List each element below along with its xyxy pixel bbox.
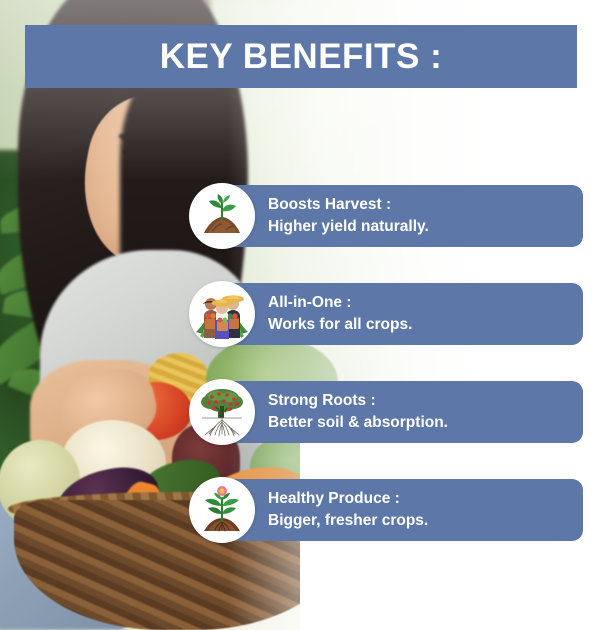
header-banner: KEY BENEFITS : [25,25,577,88]
benefit-title: Boosts Harvest : [268,194,583,216]
benefit-row[interactable]: Healthy Produce : Bigger, fresher crops. [0,479,600,577]
benefit-pill[interactable]: Boosts Harvest : Higher yield naturally. [218,185,583,247]
benefit-description: Better soil & absorption. [268,412,583,434]
benefit-row[interactable]: Boosts Harvest : Higher yield naturally. [0,185,600,283]
benefit-description: Bigger, fresher crops. [268,510,583,532]
farmers-group-icon [189,281,255,347]
benefits-list: Boosts Harvest : Higher yield naturally. [0,185,600,577]
benefit-pill[interactable]: All-in-One : Works for all crops. [218,283,583,345]
benefit-description: Works for all crops. [268,314,583,336]
benefit-row[interactable]: Strong Roots : Better soil & absorption. [0,381,600,479]
benefit-pill[interactable]: Healthy Produce : Bigger, fresher crops. [218,479,583,541]
benefit-title: Strong Roots : [268,390,583,412]
page-title: KEY BENEFITS : [160,39,443,74]
tree-with-roots-icon [189,379,255,445]
benefit-title: All-in-One : [268,292,583,314]
seedling-in-soil-icon [189,183,255,249]
benefit-pill[interactable]: Strong Roots : Better soil & absorption. [218,381,583,443]
infographic-canvas: KEY BENEFITS : Boosts Harvest : Higher y… [0,0,600,630]
benefit-row[interactable]: All-in-One : Works for all crops. [0,283,600,381]
benefit-title: Healthy Produce : [268,488,583,510]
flowering-plant-icon [189,477,255,543]
benefit-description: Higher yield naturally. [268,216,583,238]
